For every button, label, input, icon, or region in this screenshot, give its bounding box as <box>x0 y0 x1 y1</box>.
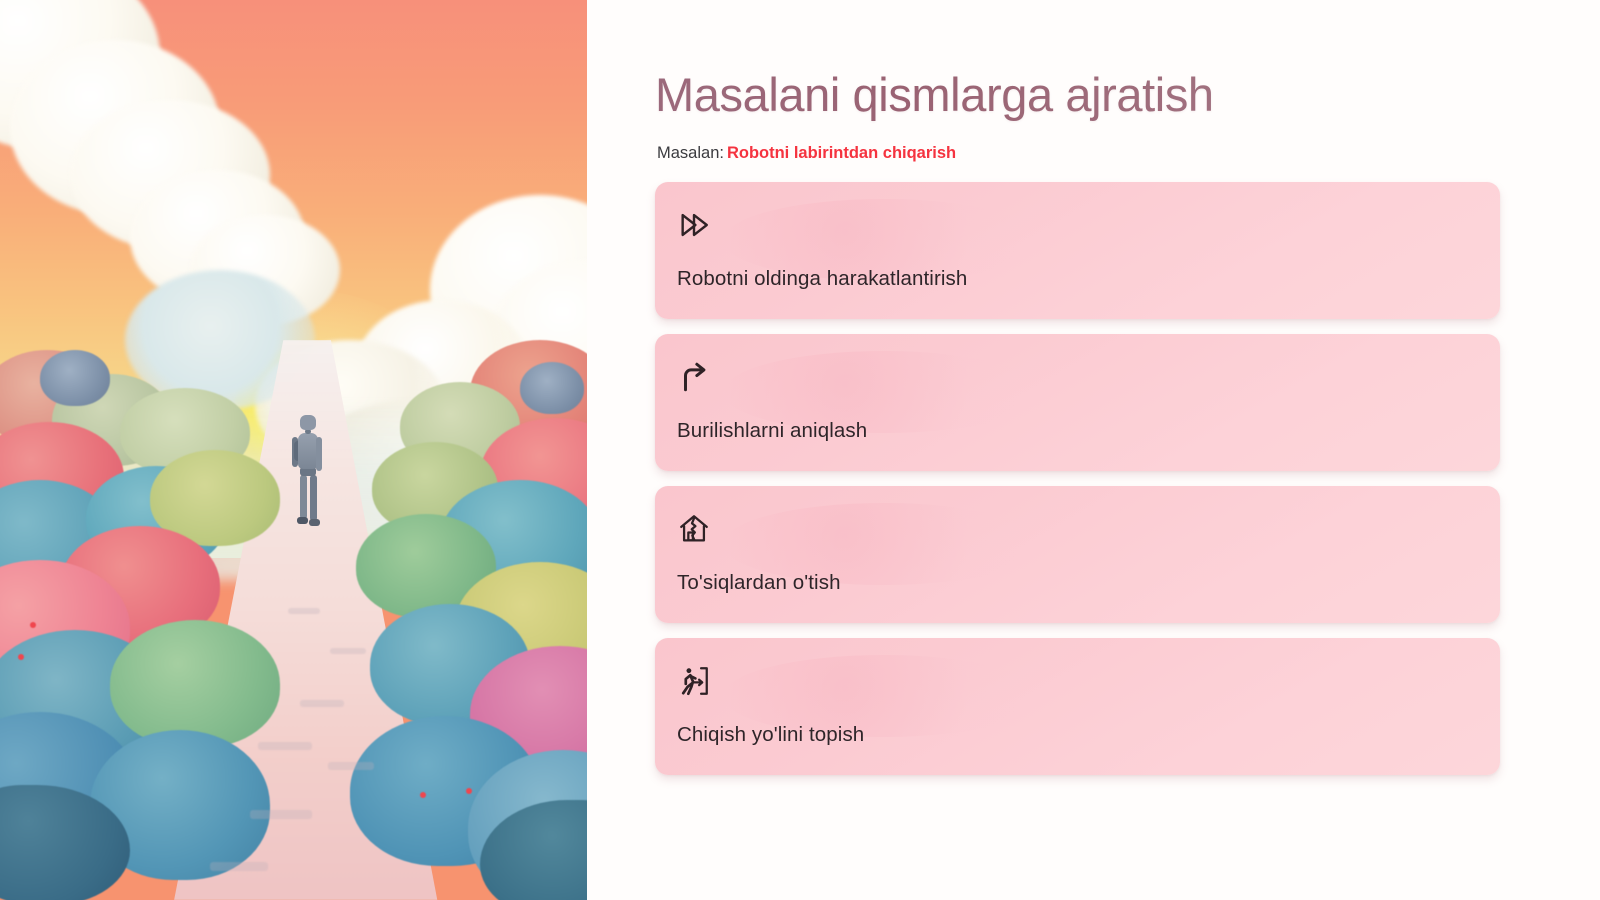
step-label: Chiqish yo'lini topish <box>677 723 1500 748</box>
robot-figure <box>289 415 325 533</box>
path-stone <box>288 608 320 614</box>
page-title: Masalani qismlarga ajratish <box>655 66 1214 125</box>
turn-right-arrow-icon <box>677 360 711 394</box>
example-task-name: Robotni labirintdan chiqarish <box>727 144 956 162</box>
palm-plant <box>40 350 110 406</box>
step-card[interactable]: Burilishlarni aniqlash <box>655 334 1500 471</box>
page-root: Masalani qismlarga ajratish Masalan:Robo… <box>0 0 1600 900</box>
flower <box>30 622 36 628</box>
path-stone <box>210 862 268 871</box>
exit-running-person-icon <box>677 664 711 698</box>
path-stone <box>328 762 374 770</box>
example-subtitle: Masalan:Robotni labirintdan chiqarish <box>657 143 1500 164</box>
step-card[interactable]: Robotni oldinga harakatlantirish <box>655 182 1500 319</box>
bush <box>110 620 280 748</box>
steps-list: Robotni oldinga harakatlantirish Burilis… <box>655 182 1500 775</box>
hero-illustration <box>0 0 587 900</box>
flower <box>420 792 426 798</box>
step-label: To'siqlardan o'tish <box>677 571 1500 596</box>
step-label: Robotni oldinga harakatlantirish <box>677 267 1500 292</box>
flower <box>18 654 24 660</box>
path-stone <box>300 700 344 707</box>
flower <box>466 788 472 794</box>
step-card[interactable]: To'siqlardan o'tish <box>655 486 1500 623</box>
example-label: Masalan: <box>657 144 724 162</box>
content-panel: Masalani qismlarga ajratish Masalan:Robo… <box>587 0 1600 900</box>
fast-forward-icon <box>677 208 711 242</box>
path-stone <box>258 742 312 750</box>
palm-plant <box>520 362 584 414</box>
path-stone <box>330 648 366 654</box>
step-label: Burilishlarni aniqlash <box>677 419 1500 444</box>
cracked-house-icon <box>677 512 711 546</box>
step-card[interactable]: Chiqish yo'lini topish <box>655 638 1500 775</box>
path-stone <box>250 810 312 819</box>
